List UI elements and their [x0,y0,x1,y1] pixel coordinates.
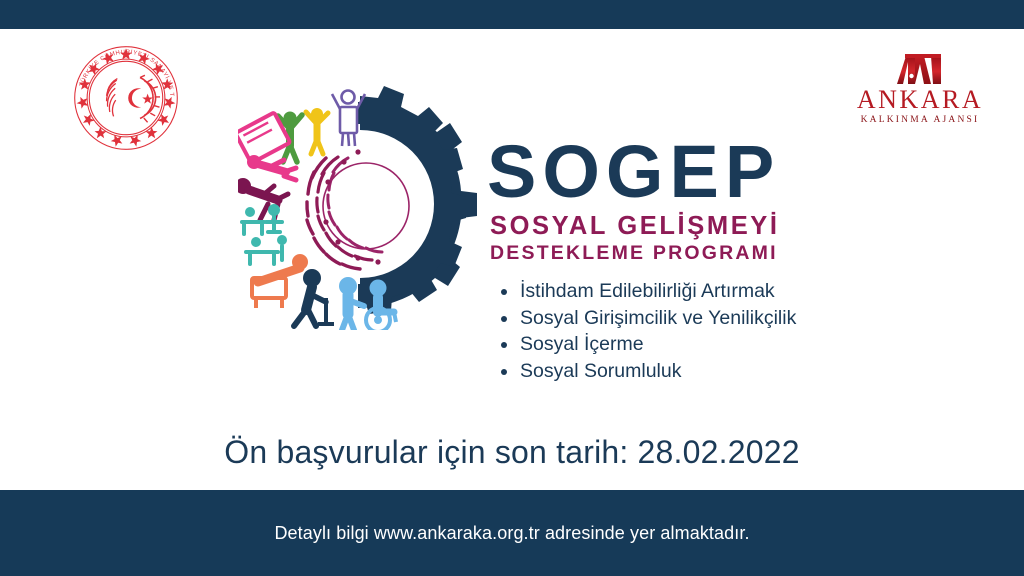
sogep-subtitle-line-1: SOSYAL GELİŞMEYİ [490,212,797,241]
objective-label: İstihdam Edilebilirliği Artırmak [520,280,775,302]
ankara-a-mark-icon [845,52,995,86]
figure-person-navy-crutch [294,269,334,326]
objective-label: Sosyal Sorumluluk [520,360,681,382]
list-item: İstihdam Edilebilirliği Artırmak [495,278,796,305]
sogep-subtitle-line-2: DESTEKLEME PROGRAMI [490,243,797,265]
objective-label: Sosyal İçerme [520,333,644,355]
sogep-wordmark: SOGEP SOSYAL GELİŞMEYİ DESTEKLEME PROGRA… [487,138,797,264]
objectives-list: İstihdam Edilebilirliği Artırmak Sosyal … [495,278,796,384]
figure-person-yellow [306,108,328,154]
objective-label: Sosyal Girişimcilik ve Yenilikçilik [520,307,796,329]
application-deadline-text: Ön başvurular için son tarih: 28.02.2022 [0,434,1024,471]
list-item: Sosyal İçerme [495,331,796,358]
sogep-title: SOGEP [487,138,797,206]
list-item: Sosyal Girişimcilik ve Yenilikçilik [495,305,796,332]
footer-info-text: Detaylı bilgi www.ankaraka.org.tr adresi… [274,523,749,544]
bullet-dot-icon [501,342,507,348]
ankara-logo-subtitle: KALKINMA AJANSI [845,116,995,126]
footer-bar: Detaylı bilgi www.ankaraka.org.tr adresi… [0,490,1024,576]
figure-person-orange-bench [252,254,308,308]
sogep-emblem-icon [238,82,478,330]
bullet-dot-icon [501,369,507,375]
figure-person-green [278,112,302,163]
ministry-seal-logo: TÜRKİYE CUMHURİYETİ SANAYİ VE TEKNOLOJİ … [72,44,180,152]
ankara-development-agency-logo: ANKARA KALKINMA AJANSI [845,52,995,124]
ankara-logo-name: ANKARA [845,87,995,113]
bullet-dot-icon [501,289,507,295]
top-accent-bar [0,0,1024,29]
ministry-seal-icon: TÜRKİYE CUMHURİYETİ SANAYİ VE TEKNOLOJİ … [72,44,180,152]
bullet-dot-icon [501,316,507,322]
list-item: Sosyal Sorumluluk [495,358,796,385]
